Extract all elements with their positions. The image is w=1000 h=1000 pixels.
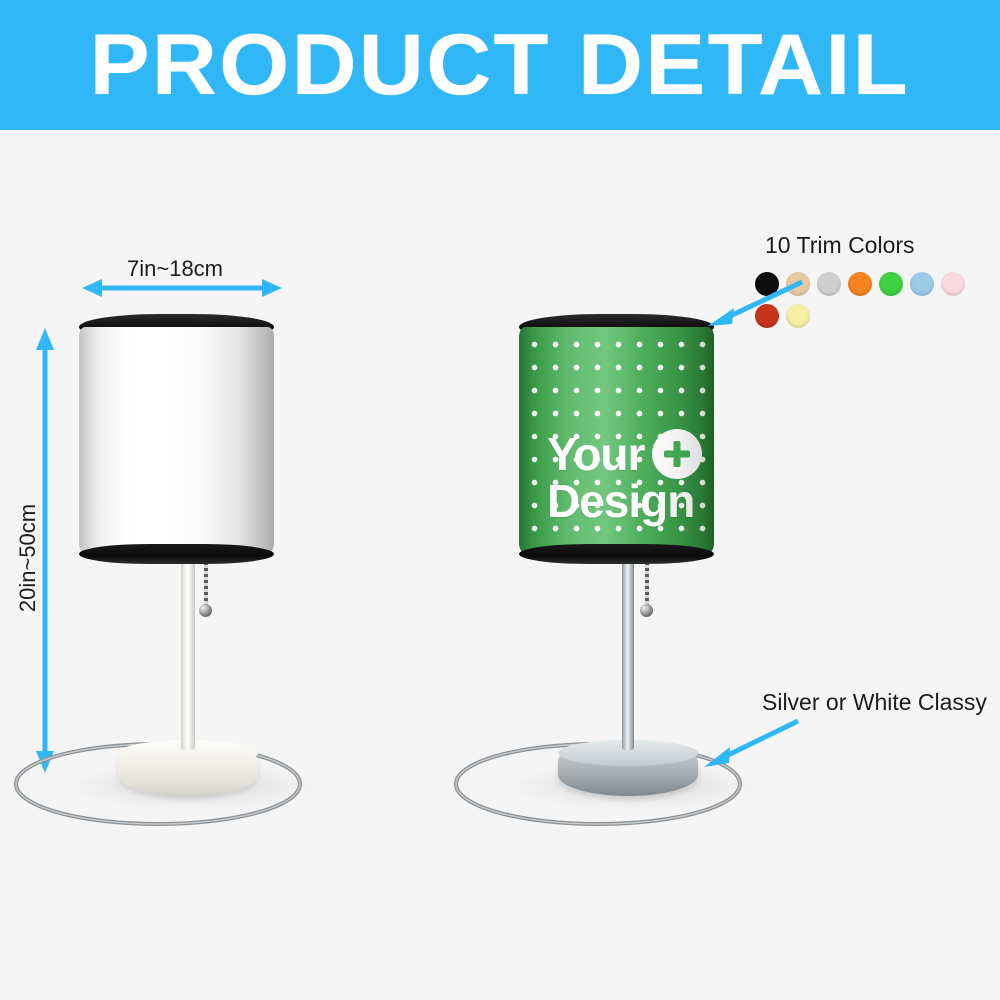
lampshade-body-green: Your Design	[519, 327, 714, 553]
lampshade-trim-bottom-white	[79, 544, 274, 564]
design-row-top: Your	[547, 429, 702, 479]
lampshade-white	[79, 314, 274, 564]
pull-chain-ball-white[interactable]	[199, 604, 212, 617]
design-placeholder: Your Design	[547, 429, 702, 523]
trim-color-swatch[interactable]	[941, 272, 965, 296]
page-header-banner: PRODUCT DETAIL	[0, 0, 1000, 130]
width-dimension-arrow	[82, 275, 282, 301]
lampshade-body-white	[79, 327, 274, 553]
pull-chain-ball-green[interactable]	[640, 604, 653, 617]
trim-color-swatch[interactable]	[910, 272, 934, 296]
lamp-pole-silver	[622, 550, 634, 750]
height-dimension-arrow	[32, 328, 58, 773]
trim-color-swatch[interactable]	[848, 272, 872, 296]
base-finish-label: Silver or White Classy	[762, 689, 987, 716]
lamp-pole-white	[181, 550, 195, 750]
page-title: PRODUCT DETAIL	[90, 22, 910, 108]
lamp-white	[60, 300, 320, 820]
lampshade-green: Your Design	[519, 314, 714, 564]
design-line-1: Your	[547, 432, 644, 476]
design-row-bottom: Design	[547, 479, 702, 523]
lampshade-trim-bottom-green	[519, 544, 714, 564]
trim-color-swatch[interactable]	[879, 272, 903, 296]
design-line-2: Design	[547, 479, 694, 523]
product-detail-page: PRODUCT DETAIL 7in~18cm 20in~50cm	[0, 0, 1000, 1000]
plus-icon	[652, 429, 702, 479]
trim-color-swatch[interactable]	[817, 272, 841, 296]
lampshade-gloss-white	[79, 327, 274, 553]
trim-color-callout-arrow	[700, 274, 810, 334]
base-finish-callout-arrow	[698, 715, 808, 773]
trim-colors-title: 10 Trim Colors	[765, 232, 915, 259]
